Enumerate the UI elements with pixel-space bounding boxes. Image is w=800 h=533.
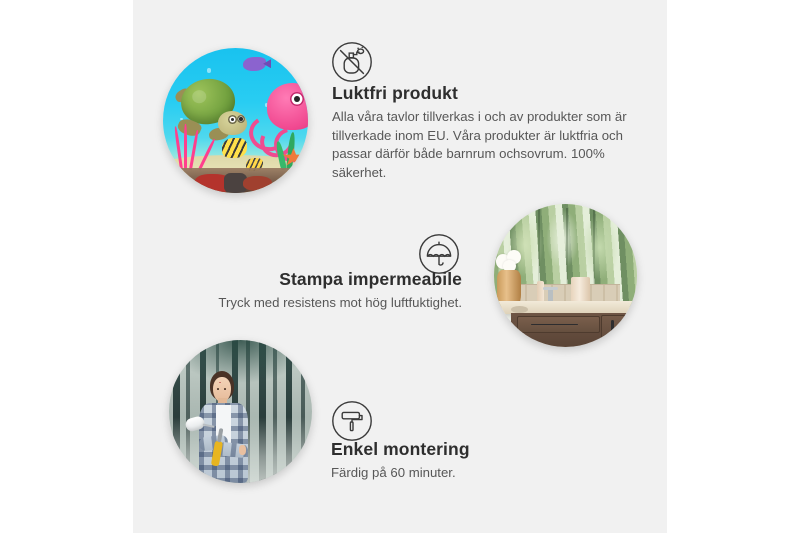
- feature-title: Stampa impermeabile: [160, 269, 462, 290]
- coral-illustration: [169, 126, 213, 170]
- feature-description: Alla våra tavlor tillverkas i och av pro…: [332, 108, 627, 183]
- woman-figure: [189, 371, 269, 483]
- feature-text-odour-free: Luktfri produkt Alla våra tavlor tillver…: [332, 83, 627, 183]
- bubble-icon: [207, 68, 211, 72]
- infographic-stage: Luktfri produkt Alla våra tavlor tillver…: [0, 0, 800, 533]
- feature-title: Luktfri produkt: [332, 83, 627, 104]
- forest-scene: [169, 340, 312, 483]
- underwater-scene: [163, 48, 308, 193]
- feature-text-waterproof-print: Stampa impermeabile Tryck med resistens …: [160, 269, 462, 313]
- feature-description: Tryck med resistens mot hög luftfuktighe…: [160, 294, 462, 313]
- feature-title: Enkel montering: [331, 439, 621, 460]
- bottle-object: [537, 281, 544, 302]
- wooden-cabinet: [511, 313, 637, 347]
- soap-dish: [511, 306, 528, 313]
- bathroom-botanical-wallpaper-photo: [494, 204, 637, 347]
- feature-description: Färdig på 60 minuter.: [331, 464, 621, 483]
- no-perfume-spray-icon: [331, 41, 373, 83]
- paint-roller-icon: [331, 400, 373, 442]
- yellow-fish-icon: [222, 138, 247, 158]
- feature-text-easy-mounting: Enkel montering Färdig på 60 minuter.: [331, 439, 621, 483]
- woman-paint-roller-forest-photo: [169, 340, 312, 483]
- underwater-cartoon-photo: [163, 48, 308, 193]
- purple-fish-icon: [243, 57, 266, 72]
- bathroom-scene: [494, 204, 637, 347]
- seabed-strip: [163, 168, 308, 193]
